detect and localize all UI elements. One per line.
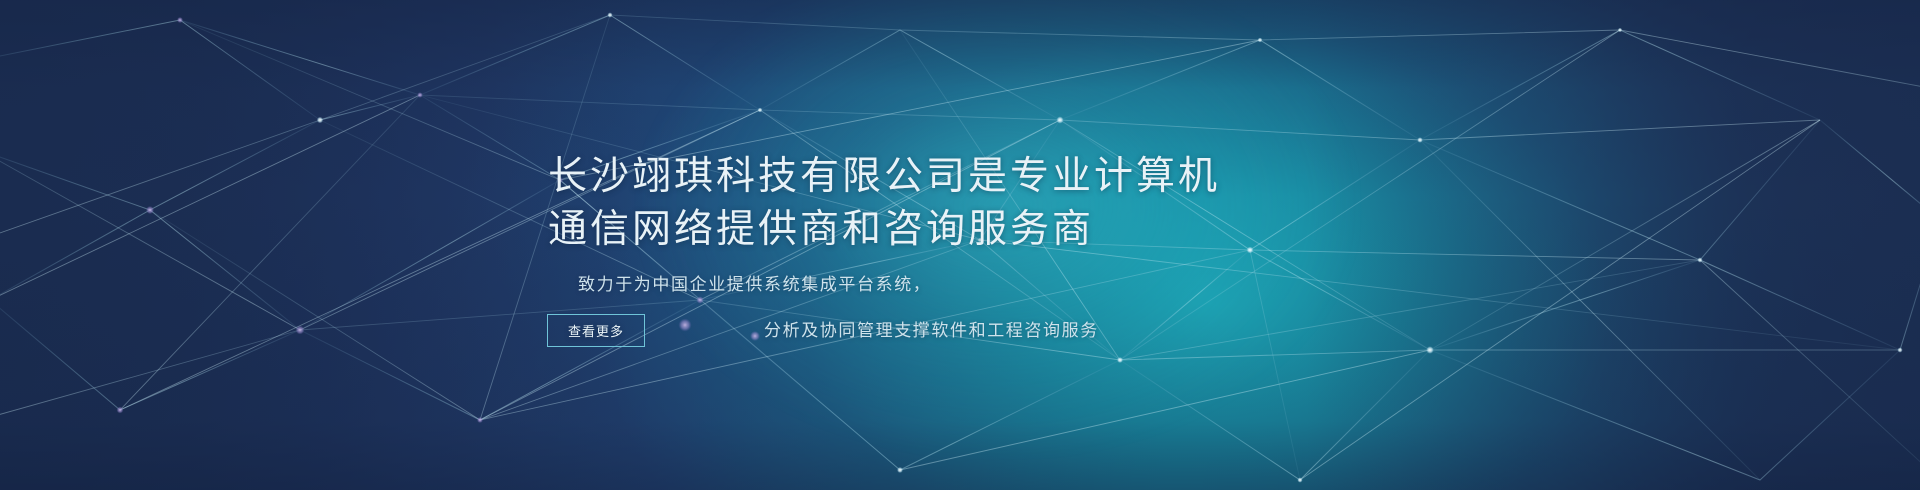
headline-line-2: 通信网络提供商和咨询服务商 <box>548 203 1220 256</box>
headline-line-1: 长沙翊琪科技有限公司是专业计算机 <box>548 150 1220 203</box>
subtitle-line-1: 致力于为中国企业提供系统集成平台系统， <box>578 262 1099 308</box>
view-more-button[interactable]: 查看更多 <box>547 314 645 347</box>
subtitle-line-2: 分析及协同管理支撑软件和工程咨询服务 <box>578 308 1099 354</box>
banner-headline: 长沙翊琪科技有限公司是专业计算机 通信网络提供商和咨询服务商 <box>548 150 1220 256</box>
banner-subtitle: 致力于为中国企业提供系统集成平台系统， 分析及协同管理支撑软件和工程咨询服务 <box>578 262 1099 354</box>
hero-banner: 长沙翊琪科技有限公司是专业计算机 通信网络提供商和咨询服务商 致力于为中国企业提… <box>0 0 1920 490</box>
banner-content: 长沙翊琪科技有限公司是专业计算机 通信网络提供商和咨询服务商 致力于为中国企业提… <box>0 0 1920 490</box>
